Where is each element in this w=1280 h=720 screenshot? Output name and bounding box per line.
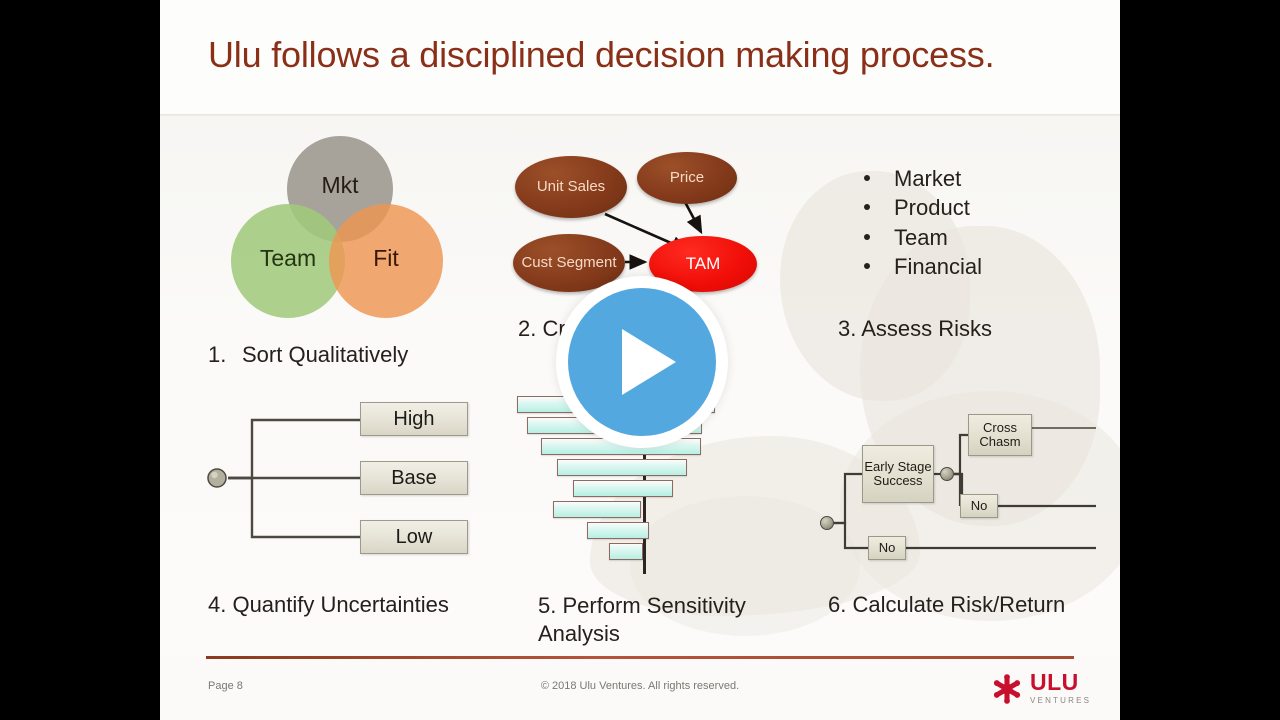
- panel-1-number: 1.: [208, 342, 242, 368]
- play-button-circle[interactable]: [568, 288, 716, 436]
- chance-node: [820, 516, 834, 530]
- tree-node-base: Base: [360, 461, 468, 495]
- tornado-bar: [609, 543, 643, 560]
- tornado-bar: [573, 480, 673, 497]
- ulu-ventures-logo: ULU VENTURES: [990, 670, 1110, 708]
- tree-node-high: High: [360, 402, 468, 436]
- venn-label-fit: Fit: [329, 245, 443, 272]
- ulu-asterisk-icon: [990, 672, 1024, 706]
- value-map-diagram: Unit Sales Price Cust Segment TAM: [505, 134, 775, 294]
- venn-circle-fit: Fit: [329, 204, 443, 318]
- letterbox-bar-right: [1120, 0, 1280, 720]
- tree-node-no-lower: No: [868, 536, 906, 560]
- uncertainty-tree: High Base Low: [200, 402, 480, 572]
- node-price: Price: [637, 152, 737, 204]
- tree-node-cross-chasm: Cross Chasm: [968, 414, 1032, 456]
- list-item: Market: [850, 164, 1100, 193]
- play-button[interactable]: [556, 276, 728, 448]
- venn-label-mkt: Mkt: [287, 172, 393, 199]
- slide-title: Ulu follows a disciplined decision makin…: [208, 34, 994, 76]
- play-triangle-icon: [622, 329, 676, 395]
- tree-node-early-stage-success: Early Stage Success: [862, 445, 934, 503]
- panel-4-caption: 4. Quantify Uncertainties: [208, 592, 449, 618]
- logo-secondary-text: VENTURES: [1030, 696, 1091, 705]
- logo-primary-text: ULU: [1030, 671, 1091, 694]
- chance-node: [940, 467, 954, 481]
- list-item: Team: [850, 223, 1100, 252]
- ulu-logo-text: ULU VENTURES: [1030, 671, 1091, 705]
- list-item: Financial: [850, 252, 1100, 281]
- venn-circle-team: Team: [231, 204, 345, 318]
- panel-1-caption: 1.Sort Qualitatively: [208, 316, 408, 368]
- node-unit-sales: Unit Sales: [515, 156, 627, 218]
- panel-3-caption: 3. Assess Risks: [838, 316, 992, 342]
- venn-label-team: Team: [231, 245, 345, 272]
- venn-diagram: Mkt Team Fit: [215, 136, 485, 321]
- slide-header: Ulu follows a disciplined decision makin…: [160, 0, 1120, 115]
- list-item: Product: [850, 193, 1100, 222]
- tornado-bar: [553, 501, 641, 518]
- panel-5-caption: 5. Perform Sensitivity Analysis: [538, 592, 746, 648]
- video-player-stage: Ulu follows a disciplined decision makin…: [0, 0, 1280, 720]
- footer-divider: [206, 656, 1074, 659]
- tornado-bar: [587, 522, 649, 539]
- letterbox-bar-left: [0, 0, 160, 720]
- tornado-bar: [557, 459, 687, 476]
- tree-node-no-upper: No: [960, 494, 998, 518]
- slide-footer: Page 8 © 2018 Ulu Ventures. All rights r…: [160, 656, 1120, 720]
- tree-node-low: Low: [360, 520, 468, 554]
- panel-1-caption-text: Sort Qualitatively: [242, 342, 408, 367]
- panel-6-caption: 6. Calculate Risk/Return: [828, 592, 1065, 618]
- copyright-notice: © 2018 Ulu Ventures. All rights reserved…: [160, 680, 1120, 692]
- risk-bullet-list: Market Product Team Financial: [850, 164, 1100, 281]
- risk-return-tree: Early Stage Success Cross Chasm No No: [800, 398, 1100, 578]
- risk-return-tree-lines: [800, 398, 1100, 578]
